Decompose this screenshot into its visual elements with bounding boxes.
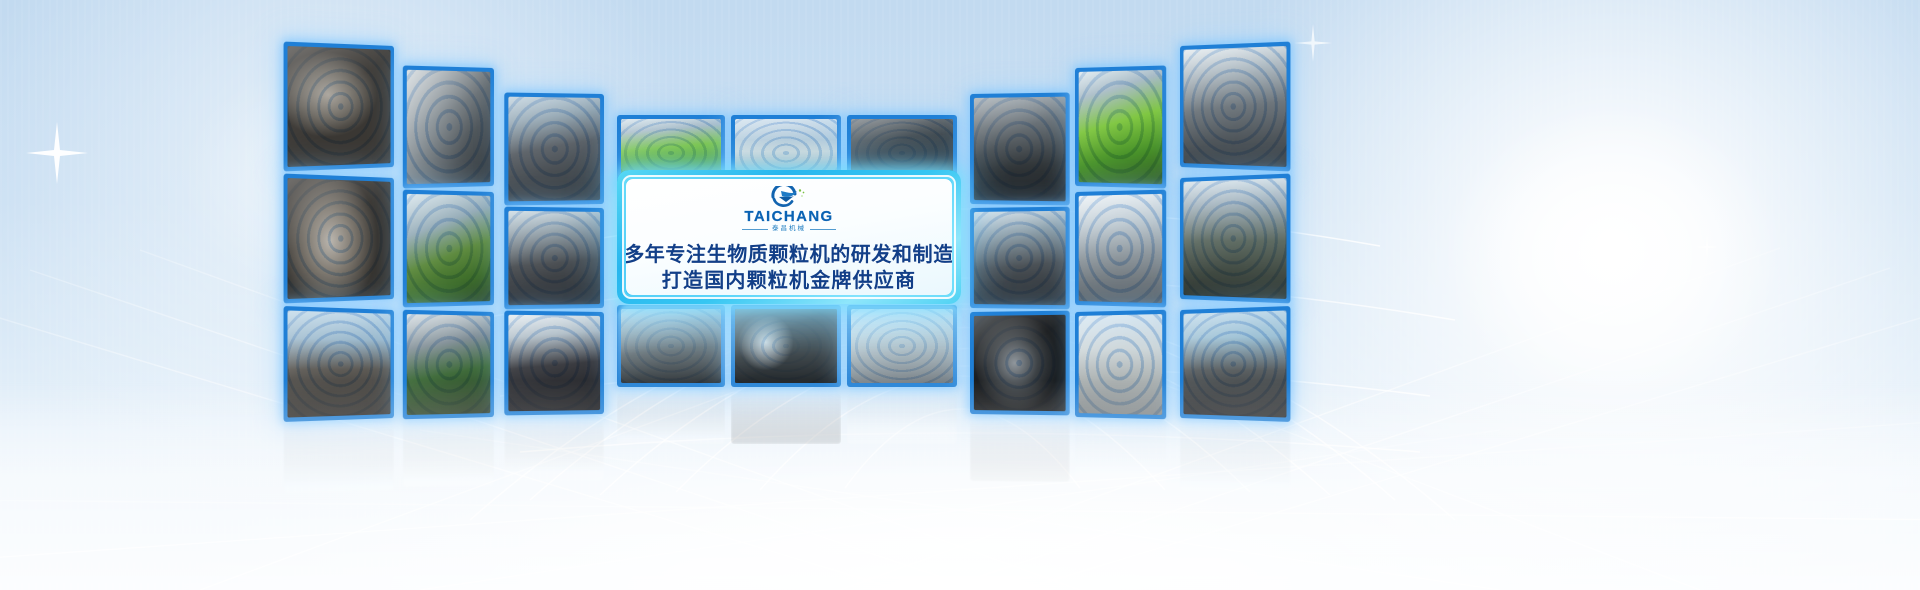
logo-sub-text: 泰昌机械 [772,226,806,233]
tile-reflection [731,388,841,444]
screen-tile[interactable] [1180,306,1290,422]
banner-stage: TAICHANG 泰昌机械 多年专注生物质颗粒机的研发和制造 打造国内颗粒机金牌… [0,0,1920,590]
screen-tile[interactable] [617,305,725,387]
screen-tile[interactable] [284,174,394,304]
screen-tile[interactable] [731,305,841,387]
panel-face: TAICHANG 泰昌机械 多年专注生物质颗粒机的研发和制造 打造国内颗粒机金牌… [626,179,952,295]
screen-tile[interactable] [284,306,394,422]
tile-reflection [1075,417,1166,488]
screen-tile[interactable] [1075,190,1166,308]
logo-wordmark: TAICHANG [744,209,833,224]
screen-tile[interactable] [504,207,604,310]
slogan-line-2: 打造国内颗粒机金牌供应商 [626,267,952,294]
logo-rule-right [810,229,836,230]
slogan-line-1: 多年专注生物质颗粒机的研发和制造 [626,241,952,268]
tile-reflection [617,388,725,444]
tile-reflection [403,417,494,488]
logo-sub-row: 泰昌机械 [742,226,836,233]
taichang-eagle-swoosh-logo-icon [769,186,809,208]
screen-tile[interactable] [504,92,604,205]
screen-tile[interactable] [1075,310,1166,420]
screen-tile[interactable] [403,65,494,188]
screen-tile[interactable] [284,42,394,172]
company-logo[interactable]: TAICHANG 泰昌机械 [742,186,836,233]
center-message-panel: TAICHANG 泰昌机械 多年专注生物质颗粒机的研发和制造 打造国内颗粒机金牌… [617,170,961,304]
screen-tile[interactable] [403,310,494,420]
screen-tile[interactable] [1180,174,1290,304]
screen-tile[interactable] [403,190,494,308]
tile-reflection [1180,416,1290,493]
screen-tile[interactable] [970,92,1070,205]
screen-tile[interactable] [970,207,1070,310]
tile-reflection [970,414,1070,482]
screen-tile[interactable] [1180,42,1290,172]
screen-tile[interactable] [1075,65,1166,188]
logo-rule-left [742,229,768,230]
screen-tile[interactable] [970,311,1070,416]
screen-tile[interactable] [504,311,604,416]
tile-reflection [504,414,604,482]
tile-reflection [847,388,957,444]
slogan-block: 多年专注生物质颗粒机的研发和制造 打造国内颗粒机金牌供应商 [626,241,952,295]
tile-reflection [284,416,394,493]
screen-tile[interactable] [847,305,957,387]
